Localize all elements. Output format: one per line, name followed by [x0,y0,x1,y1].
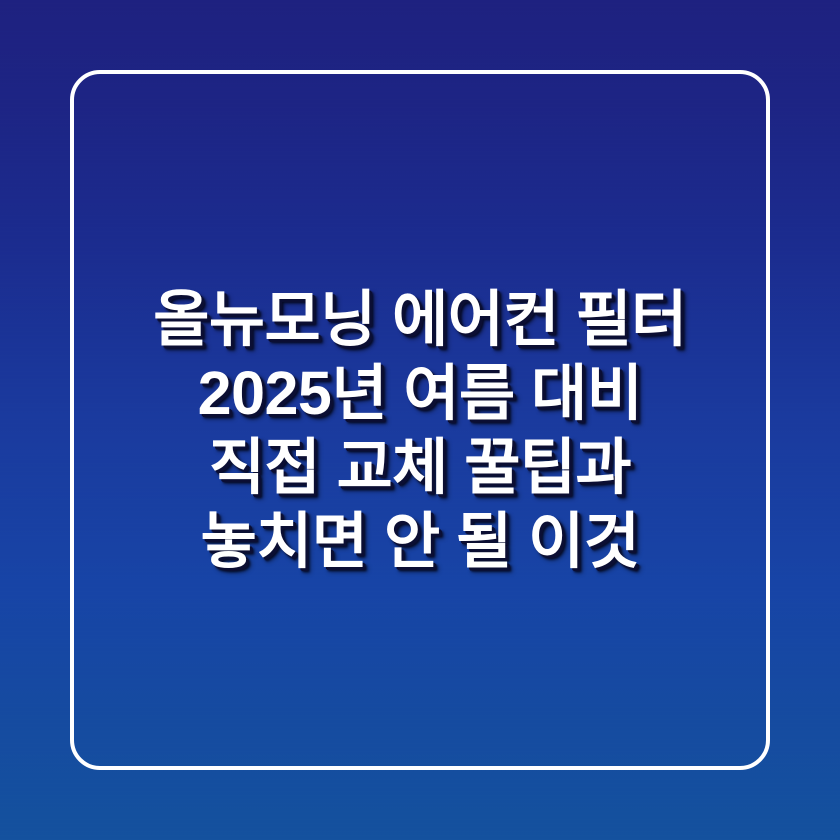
title-line-1: 올뉴모닝 에어컨 필터 [40,282,800,356]
thumbnail-canvas: 올뉴모닝 에어컨 필터 2025년 여름 대비 직접 교체 꿀팁과 놓치면 안 … [0,0,840,840]
title-line-2: 2025년 여름 대비 [40,356,800,430]
title-line-4: 놓치면 안 될 이것 [40,504,800,578]
title-block: 올뉴모닝 에어컨 필터 2025년 여름 대비 직접 교체 꿀팁과 놓치면 안 … [0,282,840,578]
title-line-3: 직접 교체 꿀팁과 [40,430,800,504]
